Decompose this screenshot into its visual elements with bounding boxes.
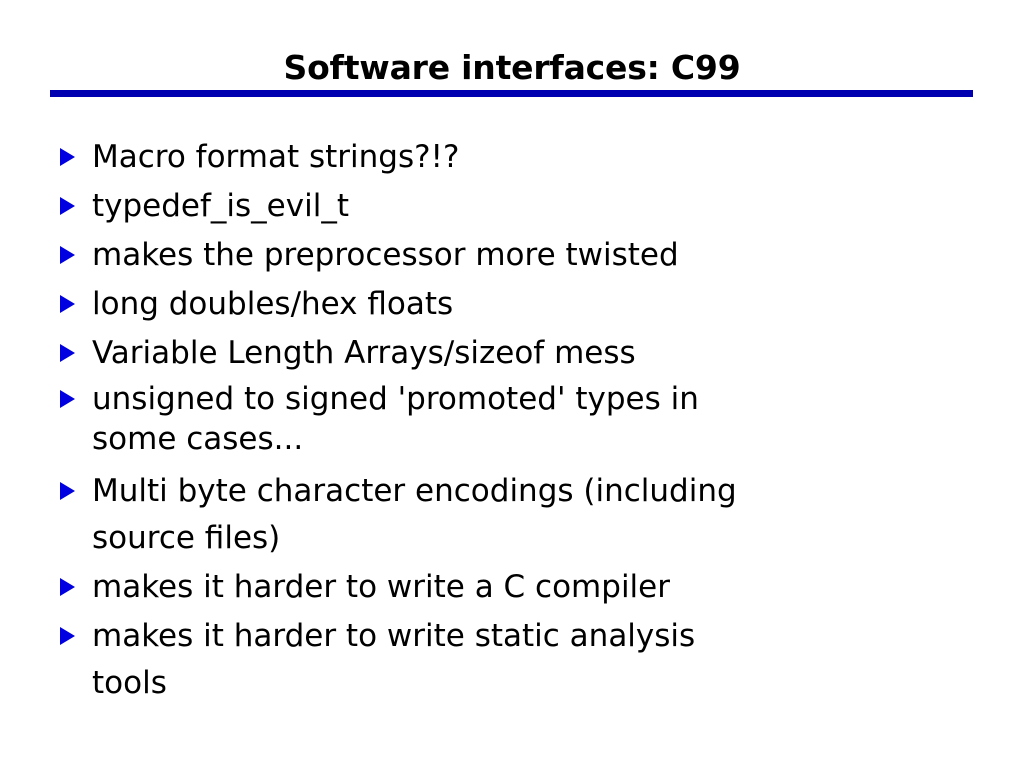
bullet-list: Macro format strings?!? typedef_is_evil_…: [60, 134, 960, 709]
slide-title-area: Software interfaces: C99: [0, 48, 1024, 88]
list-item-label: long doubles/hex floats: [92, 281, 960, 328]
triangle-right-icon: [60, 578, 75, 596]
list-item-label: makes it harder to write a C compiler: [92, 564, 960, 611]
list-item: Multi byte character encodings (includin…: [60, 468, 960, 562]
page-title: Software interfaces: C99: [0, 48, 1024, 88]
triangle-right-icon: [60, 148, 75, 166]
list-item-label: makes the preprocessor more twisted: [92, 232, 960, 279]
list-item: unsigned to signed 'promoted' types in s…: [60, 379, 960, 459]
list-item-label: typedef_is_evil_t: [92, 183, 960, 230]
list-item-label: makes it harder to write static analysis…: [92, 613, 960, 707]
list-item-label: Macro format strings?!?: [92, 134, 960, 181]
triangle-right-icon: [60, 344, 75, 362]
triangle-right-icon: [60, 197, 75, 215]
list-item-label: Multi byte character encodings (includin…: [92, 468, 960, 562]
list-item-label: Variable Length Arrays/sizeof mess: [92, 330, 960, 377]
title-divider-rule: [50, 90, 973, 97]
list-item: makes it harder to write static analysis…: [60, 613, 960, 707]
list-item-label: unsigned to signed 'promoted' types in s…: [92, 379, 960, 459]
list-item: makes it harder to write a C compiler: [60, 564, 960, 611]
list-item: makes the preprocessor more twisted: [60, 232, 960, 279]
presentation-slide: Software interfaces: C99 Macro format st…: [0, 0, 1024, 768]
triangle-right-icon: [60, 295, 75, 313]
triangle-right-icon: [60, 627, 75, 645]
list-item: Macro format strings?!?: [60, 134, 960, 181]
list-item: Variable Length Arrays/sizeof mess: [60, 330, 960, 377]
list-item: typedef_is_evil_t: [60, 183, 960, 230]
triangle-right-icon: [60, 390, 75, 408]
triangle-right-icon: [60, 482, 75, 500]
triangle-right-icon: [60, 246, 75, 264]
list-item: long doubles/hex floats: [60, 281, 960, 328]
